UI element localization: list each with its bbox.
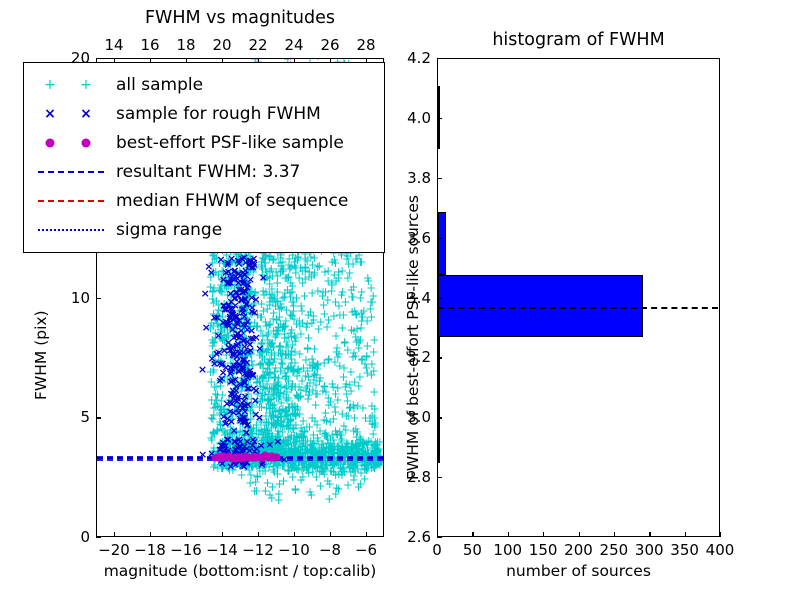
- x-tick-bottom: [150, 532, 151, 537]
- data-point: ×: [248, 442, 257, 450]
- data-point: +: [290, 485, 300, 493]
- histogram-median-line: [438, 307, 718, 309]
- data-point: +: [331, 277, 341, 285]
- data-point: +: [295, 264, 305, 272]
- data-point: +: [366, 371, 376, 379]
- x-tick-bottom: [294, 532, 295, 537]
- data-point: +: [258, 307, 268, 315]
- data-point: +: [325, 418, 335, 426]
- histogram-bar: [438, 275, 643, 338]
- data-point: +: [333, 485, 343, 493]
- data-point: +: [291, 391, 301, 399]
- data-point: +: [267, 494, 277, 502]
- data-point: +: [354, 382, 364, 390]
- data-point: ×: [202, 324, 211, 332]
- data-point: +: [351, 425, 361, 433]
- data-point: ×: [228, 351, 237, 359]
- data-point: +: [318, 387, 328, 395]
- data-point: +: [350, 352, 360, 360]
- hist-x-ticklabel: 300: [635, 541, 664, 559]
- hist-y-ticklabel: 4.0: [393, 109, 431, 127]
- data-point: +: [312, 421, 322, 429]
- x-ticklabel-top: 26: [320, 36, 339, 54]
- data-point: +: [274, 480, 284, 488]
- data-point: ×: [246, 347, 255, 355]
- data-point: ×: [239, 377, 248, 385]
- hist-x-ticklabel: 400: [706, 541, 735, 559]
- x-ticklabel-top: 20: [212, 36, 231, 54]
- data-point: +: [370, 438, 380, 446]
- right-plot-area[interactable]: [437, 58, 720, 537]
- data-point: +: [356, 258, 366, 266]
- x-tick-bottom: [114, 532, 115, 537]
- data-point: ×: [247, 308, 256, 316]
- hist-y-ticklabel: 3.6: [393, 229, 431, 247]
- hist-y-tick: [437, 238, 442, 239]
- legend-item-label: sample for rough FWHM: [116, 104, 321, 124]
- hist-x-tick: [579, 532, 580, 537]
- data-point: ×: [241, 288, 250, 296]
- x-ticklabel-bottom: −12: [242, 541, 274, 559]
- hist-x-tick: [720, 532, 721, 537]
- data-point: ×: [198, 366, 207, 374]
- data-point: +: [305, 361, 315, 369]
- hist-y-tick: [437, 58, 442, 59]
- data-point: ×: [273, 438, 282, 446]
- data-point: +: [369, 388, 379, 396]
- data-point: ×: [220, 302, 229, 310]
- data-point: ×: [265, 441, 274, 449]
- data-point: ×: [217, 442, 226, 450]
- data-point: +: [343, 274, 353, 282]
- hist-x-tick: [472, 532, 473, 537]
- data-point: +: [351, 338, 361, 346]
- data-point: +: [357, 446, 367, 454]
- data-point: +: [251, 478, 261, 486]
- x-ticklabel-top: 14: [104, 36, 123, 54]
- histogram-bar: [438, 337, 440, 400]
- hist-y-tick: [437, 178, 442, 179]
- data-point: ×: [207, 269, 216, 277]
- legend-line-dash-blue-icon: [38, 171, 104, 173]
- data-point: ×: [226, 463, 235, 471]
- legend-item[interactable]: sigma range: [24, 215, 384, 244]
- x-tick-bottom: [186, 532, 187, 537]
- legend-box[interactable]: ++all sample××sample for rough FWHMbest-…: [23, 62, 385, 253]
- legend-item-label: median FHWM of sequence: [116, 191, 348, 211]
- hist-y-tick: [437, 298, 442, 299]
- data-point: +: [313, 287, 323, 295]
- data-point: +: [342, 397, 352, 405]
- data-point: +: [330, 358, 340, 366]
- y-tick-left: [96, 417, 101, 418]
- data-point: +: [306, 491, 316, 499]
- legend-key-plus-icon: ++: [30, 75, 116, 95]
- x-ticklabel-bottom: −20: [98, 541, 130, 559]
- data-point: +: [276, 254, 286, 262]
- legend-line-dash-red-icon: [38, 200, 104, 202]
- data-point: +: [367, 298, 377, 306]
- legend-item-label: resultant FWHM: 3.37: [116, 162, 300, 182]
- hist-x-ticklabel: 150: [529, 541, 558, 559]
- data-point: +: [325, 480, 335, 488]
- data-point: +: [269, 373, 279, 381]
- data-point: +: [350, 307, 360, 315]
- legend-line-dashdot-blue-icon: [38, 229, 104, 231]
- hist-x-ticklabel: 200: [564, 541, 593, 559]
- data-point: +: [273, 386, 283, 394]
- legend-marker-plus-icon: +: [80, 80, 92, 90]
- data-point: [272, 455, 279, 462]
- data-point: +: [285, 265, 295, 273]
- data-point: +: [367, 402, 377, 410]
- x-ticklabel-top: 24: [284, 36, 303, 54]
- hist-y-tick: [437, 118, 442, 119]
- legend-item[interactable]: resultant FWHM: 3.37: [24, 157, 384, 186]
- hist-x-ticklabel: 250: [600, 541, 629, 559]
- x-tick-bottom: [366, 532, 367, 537]
- data-point: ×: [233, 395, 242, 403]
- figure-canvas: FWHM vs magnitudes FWHM (pix) magnitude …: [0, 0, 800, 600]
- hist-x-ticklabel: 0: [432, 541, 442, 559]
- y-tick-left: [96, 298, 101, 299]
- data-point: +: [287, 404, 297, 412]
- data-point: [259, 454, 266, 461]
- x-ticklabel-bottom: −14: [206, 541, 238, 559]
- histogram-bar: [438, 400, 440, 463]
- x-ticklabel-bottom: −8: [319, 541, 341, 559]
- x-ticklabel-top: 22: [248, 36, 267, 54]
- data-point: +: [294, 317, 304, 325]
- data-point: ×: [226, 275, 235, 283]
- data-point: ×: [217, 361, 226, 369]
- data-point: +: [369, 336, 379, 344]
- data-point: +: [275, 406, 285, 414]
- data-point: +: [309, 254, 319, 262]
- legend-item-label: sigma range: [116, 220, 222, 240]
- data-point: [226, 452, 233, 459]
- legend-marker-cross-icon: ×: [44, 109, 56, 119]
- y-ticklabel-left: 0: [62, 528, 90, 546]
- legend-marker-dot-icon: [46, 138, 55, 147]
- data-point: +: [338, 311, 348, 319]
- data-point: +: [360, 414, 370, 422]
- y-tick-left: [96, 537, 101, 538]
- hist-x-tick: [543, 532, 544, 537]
- x-tick-bottom: [222, 532, 223, 537]
- left-panel-title: FWHM vs magnitudes: [96, 8, 384, 28]
- right-panel-xlabel: number of sources: [437, 562, 720, 580]
- histogram-bar: [438, 212, 446, 275]
- hist-x-tick: [649, 532, 650, 537]
- legend-item[interactable]: ××sample for rough FWHM: [24, 99, 384, 128]
- data-point: +: [366, 313, 376, 321]
- data-point: +: [311, 401, 321, 409]
- data-point: +: [292, 372, 302, 380]
- hist-y-ticklabel: 3.4: [393, 289, 431, 307]
- data-point: [216, 452, 223, 459]
- legend-item[interactable]: best-effort PSF-like sample: [24, 128, 384, 157]
- x-ticklabel-bottom: −18: [134, 541, 166, 559]
- data-point: ×: [251, 411, 260, 419]
- data-point: ×: [248, 371, 257, 379]
- data-point: +: [267, 349, 277, 357]
- data-point: ×: [201, 290, 210, 298]
- data-point: ×: [222, 419, 231, 427]
- data-point: ×: [251, 397, 260, 405]
- hist-y-tick: [437, 477, 442, 478]
- data-point: +: [358, 404, 368, 412]
- hist-y-ticklabel: 2.6: [393, 528, 431, 546]
- data-point: +: [330, 259, 340, 267]
- data-point: +: [275, 422, 285, 430]
- x-tick-bottom: [258, 532, 259, 537]
- data-point: +: [333, 396, 343, 404]
- hist-x-tick: [685, 532, 686, 537]
- y-tick-left: [96, 58, 101, 59]
- data-point: +: [324, 495, 334, 503]
- data-point: ×: [237, 332, 246, 340]
- x-ticklabel-bottom: −16: [170, 541, 202, 559]
- legend-item[interactable]: median FHWM of sequence: [24, 186, 384, 215]
- x-ticklabel-top: 28: [356, 36, 375, 54]
- hist-y-ticklabel: 3.2: [393, 348, 431, 366]
- data-point: ×: [210, 314, 219, 322]
- data-point: +: [298, 279, 308, 287]
- data-point: +: [348, 293, 358, 301]
- x-ticklabel-bottom: −6: [355, 541, 377, 559]
- data-point: ×: [207, 355, 216, 363]
- data-point: +: [328, 383, 338, 391]
- data-point: +: [331, 298, 341, 306]
- data-point: +: [319, 301, 329, 309]
- data-point: ×: [251, 387, 260, 395]
- legend-item-label: best-effort PSF-like sample: [116, 133, 344, 153]
- data-point: +: [331, 332, 341, 340]
- hist-y-ticklabel: 4.2: [393, 49, 431, 67]
- data-point: +: [343, 412, 353, 420]
- data-point: +: [299, 292, 309, 300]
- hist-y-ticklabel: 3.0: [393, 408, 431, 426]
- data-point: ×: [232, 362, 241, 370]
- data-point: ×: [217, 375, 226, 383]
- data-point: +: [285, 434, 295, 442]
- hist-x-ticklabel: 100: [493, 541, 522, 559]
- data-point: ×: [234, 409, 243, 417]
- data-point: +: [295, 430, 305, 438]
- data-point: +: [279, 322, 289, 330]
- hist-y-tick: [437, 357, 442, 358]
- y-ticklabel-left: 10: [62, 289, 90, 307]
- hist-x-ticklabel: 350: [670, 541, 699, 559]
- data-point: +: [310, 269, 320, 277]
- legend-key-dash-red-icon: [30, 191, 116, 211]
- data-point: +: [356, 324, 366, 332]
- data-point: +: [304, 388, 314, 396]
- histogram-bars-layer: [438, 59, 719, 536]
- data-point: +: [271, 297, 281, 305]
- legend-marker-cross-icon: ×: [80, 109, 92, 119]
- data-point: +: [339, 364, 349, 372]
- data-point: ×: [249, 255, 258, 263]
- legend-key-dot-icon: [30, 133, 116, 153]
- hist-y-ticklabel: 3.8: [393, 169, 431, 187]
- hist-y-tick: [437, 417, 442, 418]
- legend-key-cross-icon: ××: [30, 104, 116, 124]
- x-tick-bottom: [330, 532, 331, 537]
- data-point: +: [360, 360, 370, 368]
- hist-y-ticklabel: 2.8: [393, 468, 431, 486]
- hist-x-tick: [508, 532, 509, 537]
- data-point: [240, 454, 247, 461]
- y-ticklabel-left: 5: [62, 408, 90, 426]
- data-point: ×: [259, 274, 268, 282]
- hist-y-tick: [437, 537, 442, 538]
- x-ticklabel-bottom: −10: [278, 541, 310, 559]
- data-point: +: [261, 288, 271, 296]
- data-point: ×: [214, 332, 223, 340]
- legend-item-label: all sample: [116, 75, 203, 95]
- data-point: +: [303, 311, 313, 319]
- legend-key-dash-blue-icon: [30, 162, 116, 182]
- data-point: ×: [241, 321, 250, 329]
- data-point: ×: [237, 297, 246, 305]
- left-panel-xlabel: magnitude (bottom:isnt / top:calib): [96, 562, 384, 580]
- hist-x-ticklabel: 50: [463, 541, 482, 559]
- data-point: ×: [255, 345, 264, 353]
- data-point: +: [304, 334, 314, 342]
- hist-x-tick: [614, 532, 615, 537]
- x-ticklabel-top: 18: [176, 36, 195, 54]
- data-point: +: [209, 411, 219, 419]
- legend-marker-plus-icon: +: [44, 80, 56, 90]
- data-point: ×: [240, 271, 249, 279]
- left-panel-ylabel: FWHM (pix): [32, 310, 50, 400]
- data-point: +: [286, 424, 296, 432]
- right-panel-title: histogram of FWHM: [437, 30, 720, 50]
- legend-marker-dot-icon: [82, 138, 91, 147]
- legend-key-dashdot-blue-icon: [30, 220, 116, 240]
- legend-item[interactable]: ++all sample: [24, 70, 384, 99]
- data-point: +: [356, 480, 366, 488]
- data-point: ×: [238, 418, 247, 426]
- data-point: +: [369, 348, 379, 356]
- data-point: +: [280, 289, 290, 297]
- x-ticklabel-top: 16: [140, 36, 159, 54]
- data-point: ×: [225, 313, 234, 321]
